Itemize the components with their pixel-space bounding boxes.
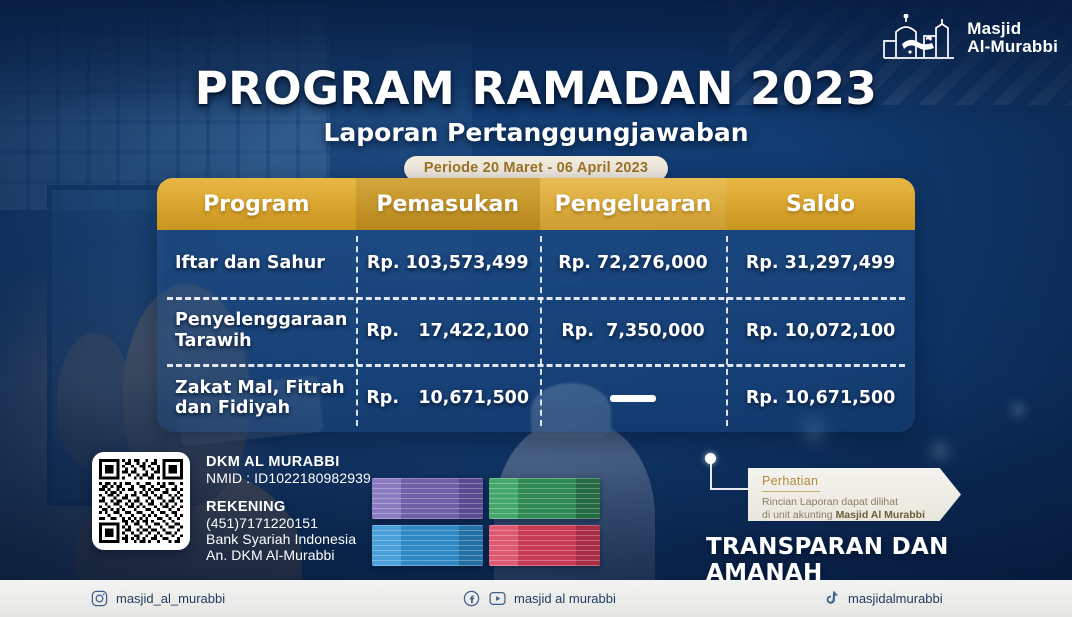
cell-program: Penyelenggaraan Tarawih bbox=[157, 297, 356, 364]
currency-prefix: Rp. bbox=[746, 321, 779, 342]
footer-handle-tiktok: masjidalmurabbi bbox=[848, 591, 943, 606]
currency-prefix: Rp. bbox=[367, 253, 400, 274]
amount-value: 31,297,499 bbox=[785, 253, 896, 274]
callout-line-1: Rincian Laporan dapat dilihat bbox=[762, 496, 898, 508]
poster-root: Masjid Al-Murabbi PROGRAM RAMADAN 2023 L… bbox=[0, 0, 1072, 617]
amount-value: 17,422,100 bbox=[418, 321, 529, 342]
table-row: Penyelenggaraan Tarawih Rp.17,422,100 Rp… bbox=[157, 297, 915, 364]
cell-pengeluaran: Rp. 72,276,000 bbox=[540, 230, 726, 297]
perhatian-callout: Perhatian Rincian Laporan dapat dilihat … bbox=[748, 468, 961, 521]
currency-prefix: Rp. bbox=[366, 388, 418, 409]
cell-saldo: Rp. 31,297,499 bbox=[726, 230, 915, 297]
rekening-label: REKENING bbox=[206, 499, 371, 515]
voucher-blue bbox=[372, 525, 483, 566]
currency-prefix: Rp. bbox=[558, 253, 591, 274]
callout-line-2-bold: Masjid Al Murabbi bbox=[836, 509, 925, 521]
currency-prefix: Rp. bbox=[366, 321, 418, 342]
cell-pemasukan: Rp.10,671,500 bbox=[356, 365, 540, 432]
brand-name: Masjid Al-Murabbi bbox=[967, 20, 1058, 55]
currency-prefix: Rp. bbox=[746, 388, 779, 409]
mosque-logo-icon bbox=[880, 14, 958, 62]
cell-pemasukan: Rp.17,422,100 bbox=[356, 297, 540, 364]
amount-value: 103,573,499 bbox=[406, 253, 529, 274]
column-header-pengeluaran: Pengeluaran bbox=[540, 178, 726, 230]
org-name: DKM AL MURABBI bbox=[206, 454, 371, 470]
callout-line-vertical bbox=[710, 462, 712, 489]
amount-value: 72,276,000 bbox=[597, 253, 708, 274]
amount-value: 7,350,000 bbox=[606, 321, 705, 342]
slogan-text: TRANSPARAN DAN AMANAH bbox=[706, 534, 1072, 586]
spacer bbox=[206, 486, 371, 499]
footer-item-tiktok[interactable]: masjidalmurabbi bbox=[822, 589, 943, 608]
bank-name: Bank Syariah Indonesia bbox=[206, 531, 371, 547]
qr-code-pattern bbox=[99, 459, 183, 543]
column-header-program: Program bbox=[157, 178, 356, 230]
currency-prefix: Rp. bbox=[746, 253, 779, 274]
voucher-green bbox=[489, 478, 600, 519]
account-details: DKM AL MURABBI NMID : ID1022180982939 RE… bbox=[206, 452, 371, 563]
voucher-purple bbox=[372, 478, 483, 519]
amount-value: 10,671,500 bbox=[785, 388, 896, 409]
brand-logo: Masjid Al-Murabbi bbox=[880, 14, 1058, 62]
qr-code-icon bbox=[92, 452, 190, 550]
cell-pemasukan: Rp. 103,573,499 bbox=[356, 230, 540, 297]
amount-value: 10,671,500 bbox=[418, 388, 529, 409]
facebook-icon bbox=[462, 589, 481, 608]
social-footer: masjid_al_murabbi masjid al murabbi bbox=[0, 580, 1072, 617]
brand-line-1: Masjid bbox=[967, 20, 1058, 38]
brand-line-2: Al-Murabbi bbox=[967, 38, 1058, 56]
column-header-pemasukan: Pemasukan bbox=[356, 178, 540, 230]
cell-saldo: Rp. 10,671,500 bbox=[726, 365, 915, 432]
account-info-block: DKM AL MURABBI NMID : ID1022180982939 RE… bbox=[92, 452, 371, 563]
cell-pengeluaran-empty bbox=[540, 365, 726, 432]
nmid-value: NMID : ID1022180982939 bbox=[206, 470, 371, 486]
account-holder: An. DKM Al-Murabbi bbox=[206, 547, 371, 563]
footer-item-facebook-youtube[interactable]: masjid al murabbi bbox=[462, 589, 616, 608]
voucher-red bbox=[489, 525, 600, 566]
page-title: PROGRAM RAMADAN 2023 bbox=[0, 62, 1072, 115]
table-body: Iftar dan Sahur Rp. 103,573,499 Rp. 72,2… bbox=[157, 230, 915, 432]
footer-item-instagram[interactable]: masjid_al_murabbi bbox=[90, 589, 225, 608]
callout-title: Perhatian bbox=[762, 474, 951, 488]
youtube-icon bbox=[488, 589, 507, 608]
callout-line-2-prefix: di unit akunting bbox=[762, 509, 836, 521]
footer-handle-facebook: masjid al murabbi bbox=[514, 591, 616, 606]
empty-value-dash-icon bbox=[610, 395, 656, 402]
header-block: PROGRAM RAMADAN 2023 Laporan Pertanggung… bbox=[0, 62, 1072, 181]
currency-prefix: Rp. bbox=[561, 321, 594, 342]
rekening-number: (451)7171220151 bbox=[206, 515, 371, 531]
amount-value: 10,072,100 bbox=[785, 321, 896, 342]
footer-handle-instagram: masjid_al_murabbi bbox=[116, 591, 225, 606]
table-row: Iftar dan Sahur Rp. 103,573,499 Rp. 72,2… bbox=[157, 230, 915, 297]
cell-saldo: Rp. 10,072,100 bbox=[726, 297, 915, 364]
page-subtitle: Laporan Pertanggungjawaban bbox=[0, 118, 1072, 147]
table-row: Zakat Mal, Fitrah dan Fidiyah Rp.10,671,… bbox=[157, 365, 915, 432]
report-table: Program Pemasukan Pengeluaran Saldo Ifta… bbox=[157, 178, 915, 432]
callout-body: Rincian Laporan dapat dilihat di unit ak… bbox=[762, 496, 951, 522]
callout-rule bbox=[762, 491, 820, 492]
voucher-images bbox=[372, 478, 600, 566]
cell-program: Iftar dan Sahur bbox=[157, 230, 356, 297]
cell-pengeluaran: Rp. 7,350,000 bbox=[540, 297, 726, 364]
tiktok-icon bbox=[822, 589, 841, 608]
callout-line-horizontal bbox=[710, 488, 750, 490]
column-header-saldo: Saldo bbox=[726, 178, 915, 230]
instagram-icon bbox=[90, 589, 109, 608]
table-header-row: Program Pemasukan Pengeluaran Saldo bbox=[157, 178, 915, 230]
cell-program: Zakat Mal, Fitrah dan Fidiyah bbox=[157, 365, 356, 432]
